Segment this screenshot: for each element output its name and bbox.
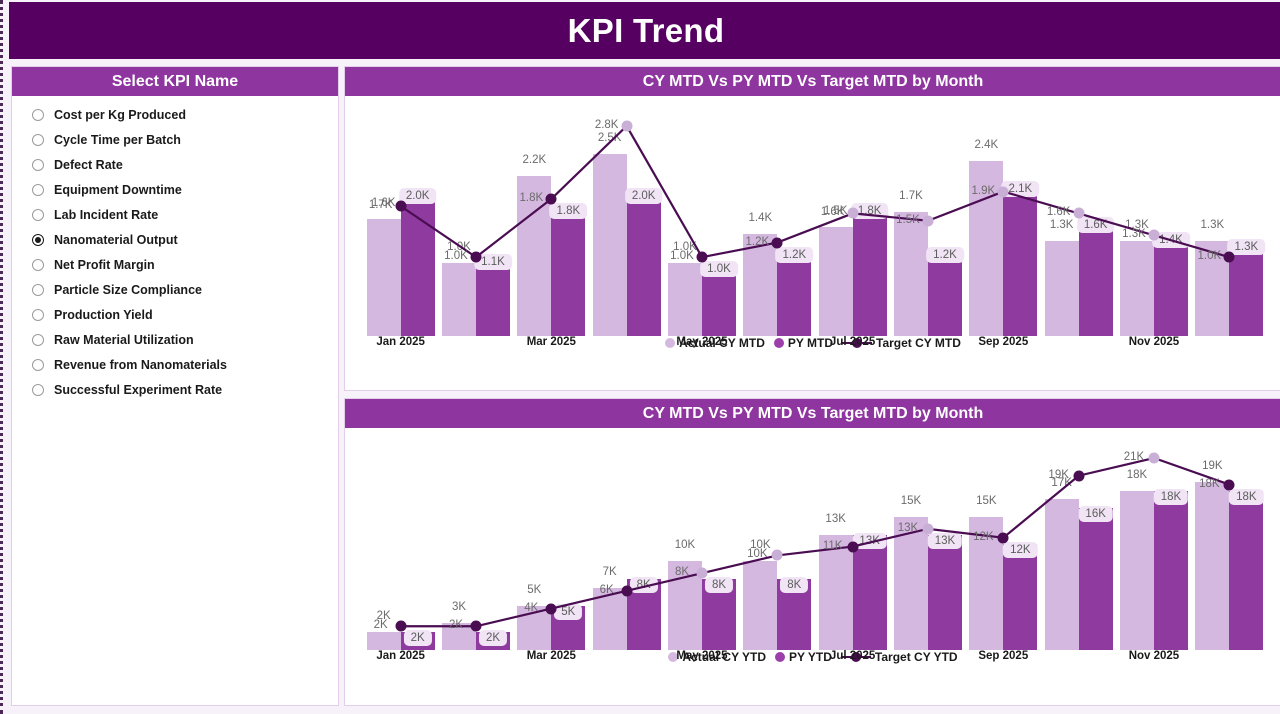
axis-tick-label: Jul 2025 [815,650,890,662]
kpi-item-label: Raw Material Utilization [54,333,194,347]
target-line-series [345,96,1280,336]
axis-tick-label [890,336,965,348]
line-label-target: 1.8K [519,192,543,204]
line-marker[interactable] [546,603,557,614]
radio-button-icon[interactable] [32,134,44,146]
radio-button-icon[interactable] [32,259,44,271]
line-marker[interactable] [923,523,934,534]
kpi-item-production-yield[interactable]: Production Yield [12,302,338,327]
kpi-item-label: Cycle Time per Batch [54,133,181,147]
line-marker[interactable] [772,550,783,561]
line-label-target: 1.0K [1197,250,1221,262]
axis-tick-label [890,650,965,662]
radio-button-icon[interactable] [32,109,44,121]
line-marker[interactable] [395,201,406,212]
line-marker[interactable] [697,568,708,579]
axis-tick-label: May 2025 [664,650,739,662]
axis-tick-label [1041,650,1116,662]
radio-button-icon[interactable] [32,359,44,371]
chart-title-bar-mtd: CY MTD Vs PY MTD Vs Target MTD by Month [345,67,1280,96]
kpi-item-revenue-from-nanomaterials[interactable]: Revenue from Nanomaterials [12,352,338,377]
axis-tick-label: Nov 2025 [1116,336,1191,348]
chart-title-mtd: CY MTD Vs PY MTD Vs Target MTD by Month [643,73,983,91]
line-marker[interactable] [1149,230,1160,241]
axis-tick-label: Jan 2025 [363,650,438,662]
line-marker[interactable] [1224,479,1235,490]
line-label-target: 4K [524,602,538,614]
line-label-target: 19K [1048,469,1068,481]
kpi-item-label: Revenue from Nanomaterials [54,358,227,372]
line-label-target: 11K [823,540,843,552]
axis-tick-label [1192,336,1267,348]
radio-button-icon[interactable] [32,234,44,246]
axis-tick-label: Mar 2025 [514,336,589,348]
line-label-target: 10K [747,548,767,560]
kpi-item-equipment-downtime[interactable]: Equipment Downtime [12,177,338,202]
line-label-target: 1.6K [1047,206,1071,218]
kpi-item-successful-experiment-rate[interactable]: Successful Experiment Rate [12,377,338,402]
radio-button-icon[interactable] [32,284,44,296]
line-marker[interactable] [847,208,858,219]
radio-button-icon[interactable] [32,159,44,171]
line-label-target: 1.3K [1122,228,1146,240]
line-marker[interactable] [471,621,482,632]
plot-area-ytd: 2K2K3K2K5K5K7K8K10K8K10K8K13K13K15K13K15… [345,428,1280,650]
line-marker[interactable] [998,186,1009,197]
kpi-item-label: Lab Incident Rate [54,208,158,222]
line-label-target: 1.7K [369,199,393,211]
kpi-item-lab-incident-rate[interactable]: Lab Incident Rate [12,202,338,227]
line-label-target: 21K [1124,451,1144,463]
line-marker[interactable] [621,585,632,596]
line-marker[interactable] [1073,208,1084,219]
kpi-slicer-header: Select KPI Name [12,67,338,96]
chart-title-ytd: CY MTD Vs PY MTD Vs Target MTD by Month [643,405,983,423]
line-label-target: 1.6K [821,206,845,218]
line-label-target: 2K [374,619,388,631]
kpi-item-label: Successful Experiment Rate [54,383,222,397]
axis-tick-label: Nov 2025 [1116,650,1191,662]
kpi-slicer-panel: Select KPI Name Cost per Kg ProducedCycl… [11,66,339,706]
kpi-item-label: Equipment Downtime [54,183,182,197]
line-marker[interactable] [847,541,858,552]
dashboard-page: KPI Trend Select KPI Name Cost per Kg Pr… [0,0,1280,714]
axis-tick-label: Jan 2025 [363,336,438,348]
axis-tick-label [740,336,815,348]
kpi-item-label: Cost per Kg Produced [54,108,186,122]
page-header: KPI Trend [9,2,1280,59]
axis-tick-label [438,650,513,662]
line-label-target: 6K [600,584,614,596]
line-marker[interactable] [772,237,783,248]
line-label-target: 18K [1199,478,1219,490]
axis-tick-label: Mar 2025 [514,650,589,662]
kpi-slicer-title: Select KPI Name [112,73,238,91]
kpi-item-defect-rate[interactable]: Defect Rate [12,152,338,177]
radio-button-icon[interactable] [32,184,44,196]
line-label-target: 8K [675,566,689,578]
radio-button-icon[interactable] [32,309,44,321]
axis-tick-label [1192,650,1267,662]
chart-panel-ytd: CY MTD Vs PY MTD Vs Target MTD by Month … [344,398,1280,706]
kpi-item-net-profit-margin[interactable]: Net Profit Margin [12,252,338,277]
axis-tick-label [740,650,815,662]
axis-tick-label [438,336,513,348]
line-label-target: 1.2K [745,236,769,248]
line-marker[interactable] [923,215,934,226]
kpi-item-label: Defect Rate [54,158,123,172]
line-marker[interactable] [1224,252,1235,263]
kpi-list: Cost per Kg ProducedCycle Time per Batch… [12,96,338,402]
plot-area-mtd: 1.6K2.0K1.0K1.1K2.2K1.8K2.5K2.0K1.0K1.0K… [345,96,1280,336]
kpi-item-particle-size-compliance[interactable]: Particle Size Compliance [12,277,338,302]
axis-tick-label [1041,336,1116,348]
axis-tick-label: Sep 2025 [966,336,1041,348]
axis-tick-label [589,336,664,348]
line-label-target: 12K [973,531,993,543]
line-label-target: 2.8K [595,119,619,131]
line-marker[interactable] [1149,453,1160,464]
kpi-item-cycle-time-per-batch[interactable]: Cycle Time per Batch [12,127,338,152]
axis-tick-label [589,650,664,662]
line-label-target: 1.0K [670,250,694,262]
line-marker[interactable] [697,252,708,263]
kpi-item-label: Net Profit Margin [54,258,155,272]
line-marker[interactable] [471,252,482,263]
axis-tick-label: Sep 2025 [966,650,1041,662]
line-marker[interactable] [1073,470,1084,481]
axis-tick-label: Jul 2025 [815,336,890,348]
kpi-item-label: Particle Size Compliance [54,283,202,297]
line-label-target: 1.0K [444,250,468,262]
chart-title-bar-ytd: CY MTD Vs PY MTD Vs Target MTD by Month [345,399,1280,428]
axis-tick-label: May 2025 [664,336,739,348]
line-marker[interactable] [621,121,632,132]
line-label-target: 1.5K [896,214,920,226]
radio-button-icon[interactable] [32,209,44,221]
radio-button-icon[interactable] [32,334,44,346]
x-axis-ytd: Jan 2025Mar 2025May 2025Jul 2025Sep 2025… [363,650,1267,662]
x-axis-mtd: Jan 2025Mar 2025May 2025Jul 2025Sep 2025… [363,336,1267,348]
page-title: KPI Trend [568,12,725,50]
line-marker[interactable] [998,532,1009,543]
line-label-target: 13K [898,522,918,534]
kpi-item-label: Production Yield [54,308,153,322]
radio-button-icon[interactable] [32,384,44,396]
line-marker[interactable] [546,193,557,204]
chart-panel-mtd: CY MTD Vs PY MTD Vs Target MTD by Month … [344,66,1280,391]
kpi-item-cost-per-kg-produced[interactable]: Cost per Kg Produced [12,102,338,127]
line-label-target: 1.9K [971,185,995,197]
kpi-item-nanomaterial-output[interactable]: Nanomaterial Output [12,227,338,252]
kpi-item-label: Nanomaterial Output [54,233,178,247]
line-label-target: 2K [449,619,463,631]
line-marker[interactable] [395,621,406,632]
kpi-item-raw-material-utilization[interactable]: Raw Material Utilization [12,327,338,352]
